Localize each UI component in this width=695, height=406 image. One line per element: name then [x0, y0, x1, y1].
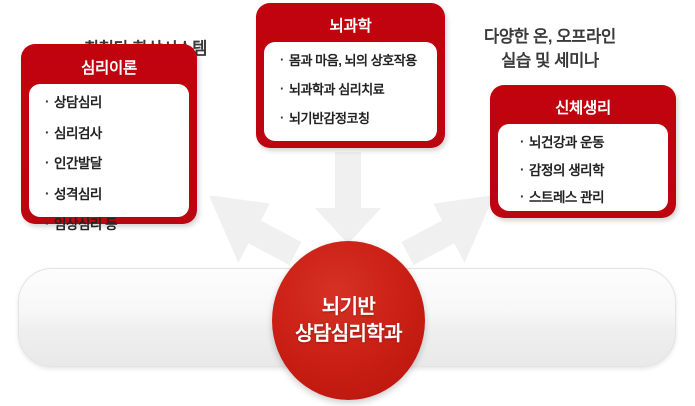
- arrow-from-psych-theory: [195, 196, 303, 272]
- card-body-physiology-title: 신체생리: [490, 96, 676, 118]
- list-item: 뇌건강과 운동: [520, 136, 658, 150]
- card-psych-theory[interactable]: 심리이론 상담심리 심리검사 인간발달 성격심리 임상심리 등: [21, 44, 197, 224]
- card-body-physiology[interactable]: 신체생리 뇌건강과 운동 감정의 생리학 스트레스 관리: [490, 85, 676, 218]
- list-item: 감정의 생리학: [520, 164, 658, 178]
- list-item: 심리검사: [45, 127, 179, 141]
- list-item: 성격심리: [45, 188, 179, 202]
- list-item: 인간발달: [45, 157, 179, 171]
- diagram-canvas: 최첨단 화상시스템 다양한 온, 오프라인 실습 및 세미나 심리이론 상담심리…: [0, 0, 695, 406]
- list-item: 뇌과학과 심리치료: [280, 83, 427, 96]
- list-item: 상담심리: [45, 96, 179, 110]
- psych-theory-list: 상담심리 심리검사 인간발달 성격심리 임상심리 등: [45, 96, 179, 232]
- card-body-physiology-body: 뇌건강과 운동 감정의 생리학 스트레스 관리: [498, 124, 668, 211]
- list-item: 스트레스 관리: [520, 191, 658, 205]
- card-psych-theory-title: 심리이론: [21, 56, 197, 78]
- list-item: 몸과 마음, 뇌의 상호작용: [280, 54, 427, 67]
- center-node-label: 뇌기반 상담심리학과: [295, 294, 402, 347]
- card-psych-theory-body: 상담심리 심리검사 인간발달 성격심리 임상심리 등: [29, 84, 189, 217]
- center-node-circle[interactable]: 뇌기반 상담심리학과: [272, 241, 425, 400]
- card-brain-science[interactable]: 뇌과학 몸과 마음, 뇌의 상호작용 뇌과학과 심리치료 뇌기반감정코칭: [256, 3, 445, 148]
- list-item: 뇌기반감정코칭: [280, 112, 427, 125]
- brain-science-list: 몸과 마음, 뇌의 상호작용 뇌과학과 심리치료 뇌기반감정코칭: [280, 54, 427, 125]
- list-item: 임상심리 등: [45, 218, 179, 232]
- arrow-from-brain-science: [313, 152, 383, 246]
- card-brain-science-body: 몸과 마음, 뇌의 상호작용 뇌과학과 심리치료 뇌기반감정코칭: [264, 42, 437, 141]
- body-physiology-list: 뇌건강과 운동 감정의 생리학 스트레스 관리: [520, 136, 658, 205]
- card-brain-science-title: 뇌과학: [256, 14, 445, 36]
